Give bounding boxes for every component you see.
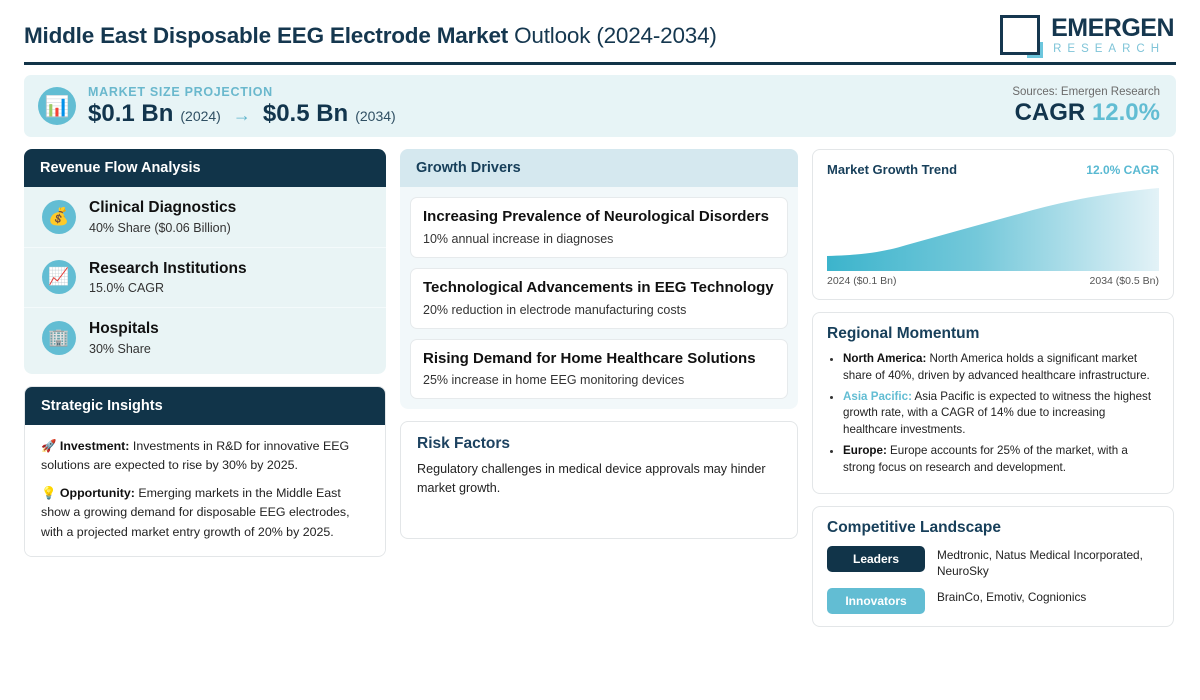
brand-logo: EMERGEN RESEARCH [1000, 15, 1176, 57]
banner-end-value: $0.5 Bn [263, 100, 348, 128]
driver-subtitle: 25% increase in home EEG monitoring devi… [423, 373, 775, 387]
status-badge: Innovators [827, 588, 925, 614]
insight-opportunity: 💡 Opportunity: Emerging markets in the M… [41, 484, 369, 542]
strategic-insights-title: Strategic Insights [25, 387, 385, 425]
left-column: Revenue Flow Analysis 💰 Clinical Diagnos… [24, 149, 386, 557]
regional-momentum-list: North America: North America holds a sig… [827, 351, 1159, 477]
list-item-meta: 40% Share ($0.06 Billion) [89, 221, 236, 235]
region-name: Asia Pacific: [843, 390, 912, 403]
table-row: Leaders Medtronic, Natus Medical Incorpo… [827, 546, 1159, 580]
list-item[interactable]: Rising Demand for Home Healthcare Soluti… [410, 339, 788, 400]
list-item-name: Research Institutions [89, 260, 247, 279]
sources-text: Sources: Emergen Research [1012, 86, 1160, 98]
regional-momentum-title: Regional Momentum [827, 325, 1159, 343]
right-column: Market Growth Trend 12.0% CAGR [812, 149, 1174, 627]
axis-label-end: 2034 ($0.5 Bn) [1090, 275, 1159, 287]
company-names: BrainCo, Emotiv, Cognionics [937, 588, 1086, 606]
risk-factors-text: Regulatory challenges in medical device … [417, 460, 781, 498]
area-series-path [827, 188, 1159, 271]
growth-drivers-list: Increasing Prevalence of Neurological Di… [400, 187, 798, 409]
driver-subtitle: 20% reduction in electrode manufacturing… [423, 303, 775, 317]
growth-drivers-title: Growth Drivers [400, 149, 798, 187]
page-title: Middle East Disposable EEG Electrode Mar… [24, 23, 717, 49]
cagr-label: CAGR [1015, 99, 1086, 126]
money-bag-icon: 💰 [42, 200, 76, 234]
chart-increasing-icon: 📈 [42, 260, 76, 294]
header-divider [24, 62, 1176, 65]
logo-name: EMERGEN [1051, 16, 1174, 41]
cagr-value: 12.0% [1092, 99, 1160, 126]
content-columns: Revenue Flow Analysis 💰 Clinical Diagnos… [24, 149, 1176, 627]
chart-axis-labels: 2024 ($0.1 Bn) 2034 ($0.5 Bn) [827, 275, 1159, 287]
growth-drivers-card: Growth Drivers Increasing Prevalence of … [400, 149, 798, 409]
infographic-page: Middle East Disposable EEG Electrode Mar… [0, 0, 1200, 700]
strategic-insights-body: 🚀 Investment: Investments in R&D for inn… [25, 425, 385, 556]
bar-chart-icon: 📊 [38, 87, 76, 125]
page-title-strong: Middle East Disposable EEG Electrode Mar… [24, 23, 508, 48]
hospital-building-icon: 🏢 [42, 321, 76, 355]
list-item-meta: 15.0% CAGR [89, 281, 247, 295]
list-item[interactable]: Technological Advancements in EEG Techno… [410, 268, 788, 329]
axis-label-start: 2024 ($0.1 Bn) [827, 275, 896, 287]
list-item-name: Clinical Diagnostics [89, 199, 236, 218]
banner-start-value: $0.1 Bn [88, 100, 173, 128]
arrow-right-icon: → [228, 105, 256, 126]
trend-title: Market Growth Trend [827, 162, 957, 177]
area-chart-svg [827, 185, 1159, 271]
risk-factors-card: Risk Factors Regulatory challenges in me… [400, 421, 798, 539]
page-title-light: Outlook (2024-2034) [514, 23, 717, 48]
insight-label: Investment: [60, 439, 130, 453]
competitive-landscape-title: Competitive Landscape [827, 519, 1159, 537]
insight-label: Opportunity: [60, 486, 135, 500]
banner-label: MARKET SIZE PROJECTION [88, 85, 396, 99]
list-item[interactable]: 📈 Research Institutions 15.0% CAGR [24, 247, 386, 308]
list-item-meta: 30% Share [89, 342, 159, 356]
revenue-flow-list: 💰 Clinical Diagnostics 40% Share ($0.06 … [24, 187, 386, 374]
list-item-name: Hospitals [89, 320, 159, 339]
revenue-flow-card: Revenue Flow Analysis 💰 Clinical Diagnos… [24, 149, 386, 374]
rocket-icon: 🚀 [41, 439, 56, 453]
logo-square-icon [1000, 15, 1042, 57]
lightbulb-icon: 💡 [41, 486, 56, 500]
market-size-banner: 📊 MARKET SIZE PROJECTION $0.1 Bn (2024) … [24, 75, 1176, 137]
list-item[interactable]: 💰 Clinical Diagnostics 40% Share ($0.06 … [24, 187, 386, 247]
market-growth-trend-panel: Market Growth Trend 12.0% CAGR [812, 149, 1174, 300]
middle-column: Growth Drivers Increasing Prevalence of … [400, 149, 798, 539]
table-row: Innovators BrainCo, Emotiv, Cognionics [827, 588, 1159, 614]
banner-start-year: (2024) [180, 108, 220, 124]
driver-subtitle: 10% annual increase in diagnoses [423, 232, 775, 246]
competitive-landscape-panel: Competitive Landscape Leaders Medtronic,… [812, 506, 1174, 628]
growth-area-chart [827, 185, 1159, 271]
banner-end-year: (2034) [355, 108, 395, 124]
risk-factors-title: Risk Factors [417, 435, 781, 453]
driver-title: Technological Advancements in EEG Techno… [423, 279, 775, 298]
revenue-flow-title: Revenue Flow Analysis [24, 149, 386, 187]
driver-title: Rising Demand for Home Healthcare Soluti… [423, 350, 775, 369]
insight-investment: 🚀 Investment: Investments in R&D for inn… [41, 437, 369, 475]
page-header: Middle East Disposable EEG Electrode Mar… [24, 0, 1176, 58]
company-names: Medtronic, Natus Medical Incorporated, N… [937, 546, 1159, 580]
status-badge: Leaders [827, 546, 925, 572]
cagr-summary: CAGR 12.0% [1012, 99, 1160, 127]
regional-momentum-panel: Regional Momentum North America: North A… [812, 312, 1174, 494]
list-item: North America: North America holds a sig… [843, 351, 1159, 385]
driver-title: Increasing Prevalence of Neurological Di… [423, 208, 775, 227]
list-item: Europe: Europe accounts for 25% of the m… [843, 443, 1159, 477]
strategic-insights-card: Strategic Insights 🚀 Investment: Investm… [24, 386, 386, 557]
region-name: North America: [843, 352, 926, 365]
logo-subtitle: RESEARCH [1051, 44, 1174, 56]
list-item: Asia Pacific: Asia Pacific is expected t… [843, 389, 1159, 439]
list-item[interactable]: Increasing Prevalence of Neurological Di… [410, 197, 788, 258]
trend-cagr-badge: 12.0% CAGR [1086, 163, 1159, 177]
list-item[interactable]: 🏢 Hospitals 30% Share [24, 307, 386, 368]
region-name: Europe: [843, 444, 887, 457]
